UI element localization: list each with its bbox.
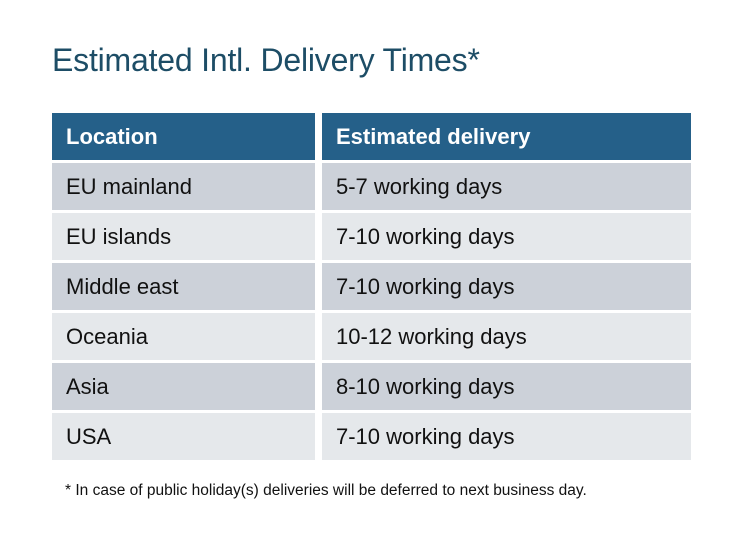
cell-estimated-delivery: 10-12 working days — [322, 313, 691, 360]
cell-location: Asia — [52, 363, 315, 410]
cell-estimated-delivery: 8-10 working days — [322, 363, 691, 410]
cell-location: Oceania — [52, 313, 315, 360]
cell-location: Middle east — [52, 263, 315, 310]
table-row: EU islands 7-10 working days — [52, 213, 691, 260]
table-row: EU mainland 5-7 working days — [52, 163, 691, 210]
cell-location: USA — [52, 413, 315, 460]
table-header-row: Location Estimated delivery — [52, 113, 691, 160]
cell-location: EU islands — [52, 213, 315, 260]
table-row: Middle east 7-10 working days — [52, 263, 691, 310]
table-row: Oceania 10-12 working days — [52, 313, 691, 360]
column-header-estimated-delivery: Estimated delivery — [322, 113, 691, 160]
delivery-times-page: Estimated Intl. Delivery Times* Location… — [0, 0, 745, 536]
cell-estimated-delivery: 7-10 working days — [322, 213, 691, 260]
table-row: Asia 8-10 working days — [52, 363, 691, 410]
estimated-delivery-times-table: Location Estimated delivery EU mainland … — [52, 113, 691, 460]
cell-estimated-delivery: 7-10 working days — [322, 413, 691, 460]
cell-estimated-delivery: 7-10 working days — [322, 263, 691, 310]
cell-location: EU mainland — [52, 163, 315, 210]
column-header-location: Location — [52, 113, 315, 160]
page-title: Estimated Intl. Delivery Times* — [52, 38, 480, 82]
footnote-text: * In case of public holiday(s) deliverie… — [65, 481, 587, 501]
table-row: USA 7-10 working days — [52, 413, 691, 460]
cell-estimated-delivery: 5-7 working days — [322, 163, 691, 210]
